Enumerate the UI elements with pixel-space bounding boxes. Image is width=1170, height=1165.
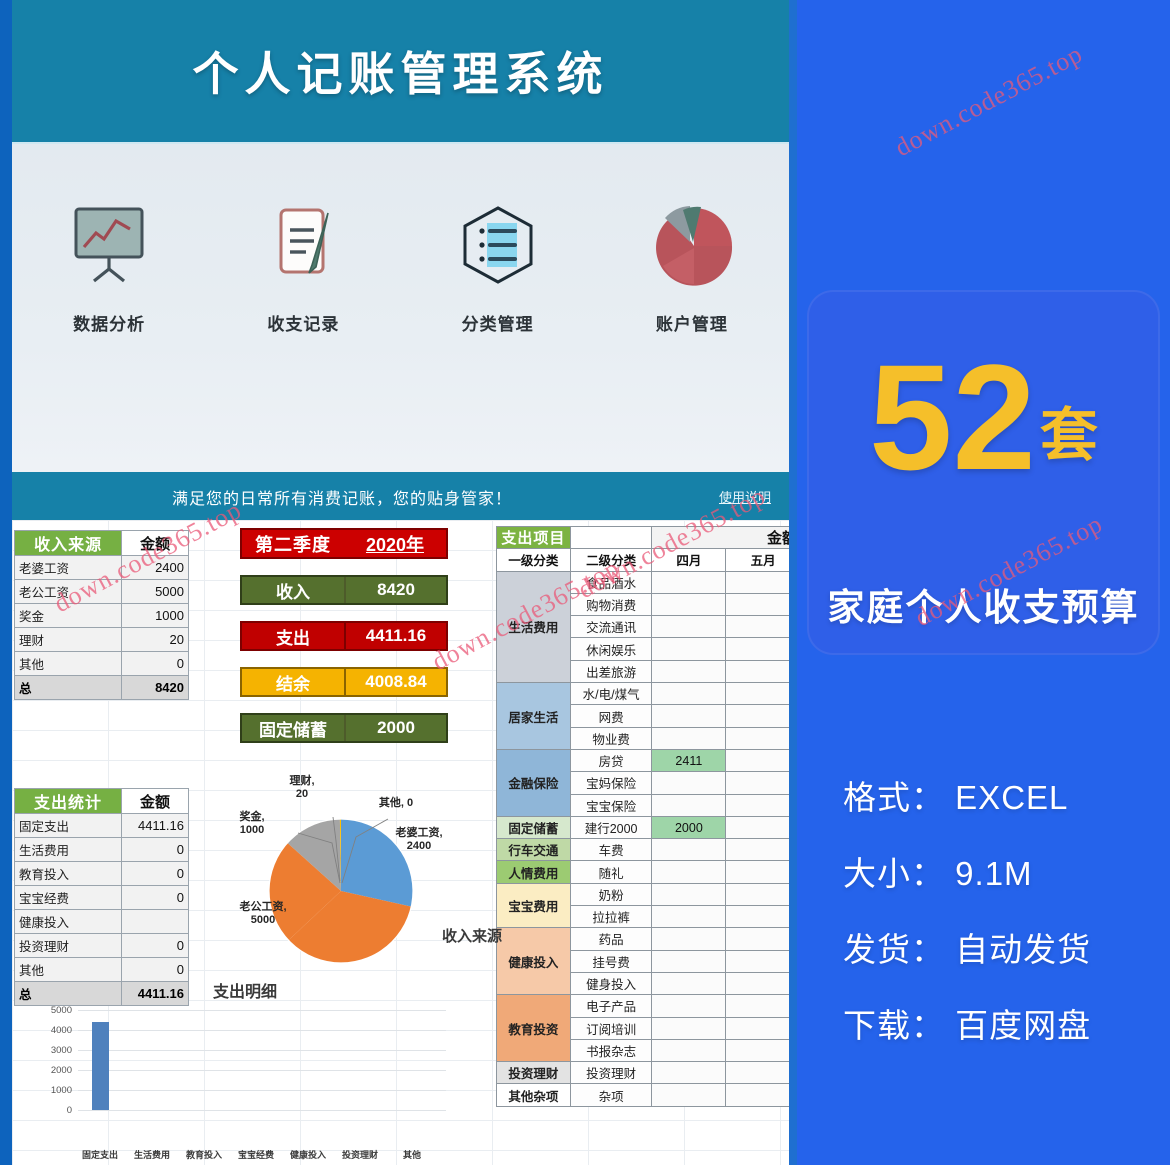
income-row-label: 老婆工资 — [15, 556, 122, 580]
summary-row-balance: 结余 4008.84 — [240, 667, 448, 697]
nav-label-account-management: 账户管理 — [617, 310, 767, 335]
expense-item-label: 车费 — [570, 839, 652, 861]
pie-label-bonus: 奖金, 1000 — [230, 811, 274, 837]
expense-cell-may[interactable] — [726, 1084, 797, 1106]
expense-item-label: 杂项 — [570, 1084, 652, 1106]
expense-cell-april[interactable] — [652, 571, 726, 593]
expense-cell-may[interactable] — [726, 616, 797, 638]
expense-item-label: 房贷 — [570, 749, 652, 771]
y-axis-tick: 1000 — [36, 1085, 72, 1096]
table-row[interactable]: 人情费用 随礼 — [497, 861, 798, 883]
expense-cell-april[interactable] — [652, 972, 726, 994]
expense-item-label: 电子产品 — [570, 995, 652, 1017]
income-total-value: 8420 — [122, 676, 189, 700]
stat-row-value[interactable]: 0 — [122, 934, 189, 958]
expense-item-label: 健身投入 — [570, 972, 652, 994]
income-total-label: 总 — [15, 676, 122, 700]
expense-detail-table[interactable]: 支出项目 金额 一级分类 二级分类 四月 五月 生活费用 食品酒水 — [496, 526, 797, 1107]
table-row[interactable]: 居家生活 水/电/煤气 — [497, 683, 798, 705]
expense-item-label: 书报杂志 — [570, 1039, 652, 1061]
gridline — [78, 1090, 446, 1091]
nav-item-income-expense-record[interactable]: 收支记录 — [228, 202, 378, 335]
expense-cell-may[interactable] — [726, 1062, 797, 1084]
expense-cell-april[interactable] — [652, 1062, 726, 1084]
expense-cell-may[interactable] — [726, 928, 797, 950]
expense-cell-april[interactable] — [652, 1039, 726, 1061]
summary-value-balance: 4008.84 — [346, 669, 446, 695]
nav-item-data-analysis[interactable]: 数据分析 — [34, 202, 184, 335]
expense-cell-may[interactable] — [726, 772, 797, 794]
expense-item-label: 物业费 — [570, 727, 652, 749]
expense-item-label: 药品 — [570, 928, 652, 950]
nav-label-category-management: 分类管理 — [423, 310, 573, 335]
table-row[interactable]: 宝宝经费 0 — [15, 886, 189, 910]
stat-row-value[interactable]: 4411.16 — [122, 814, 189, 838]
table-row[interactable]: 宝宝费用 奶粉 — [497, 883, 798, 905]
stat-row-label: 健康投入 — [15, 910, 122, 934]
expense-cell-may[interactable] — [726, 950, 797, 972]
table-row[interactable]: 老婆工资 2400 — [15, 556, 189, 580]
table-row[interactable]: 生活费用 食品酒水 — [497, 571, 798, 593]
spreadsheet-area[interactable]: 收入来源 金额 老婆工资 2400 老公工资 5000 奖金 1000 — [12, 520, 789, 1165]
expense-cell-april[interactable] — [652, 593, 726, 615]
table-header-row: 一级分类 二级分类 四月 五月 — [497, 549, 798, 571]
expense-cell-may[interactable] — [726, 1039, 797, 1061]
summary-row-savings: 固定储蓄 2000 — [240, 713, 448, 743]
expense-item-label: 水/电/煤气 — [570, 683, 652, 705]
promo-info-size: 大小： 9.1M — [843, 836, 1163, 912]
income-row-value[interactable]: 20 — [122, 628, 189, 652]
stat-row-label: 生活费用 — [15, 838, 122, 862]
pie-label-licai: 理财, 20 — [282, 775, 322, 801]
income-table[interactable]: 收入来源 金额 老婆工资 2400 老公工资 5000 奖金 1000 — [14, 530, 189, 700]
table-title-row: 支出项目 金额 — [497, 527, 798, 549]
stat-header-amount: 金额 — [122, 789, 189, 814]
table-header-row: 支出统计 金额 — [15, 789, 189, 814]
nav-panel: 数据分析 收支记录 — [12, 142, 789, 472]
expense-cell-april[interactable] — [652, 906, 726, 928]
stat-row-value[interactable]: 0 — [122, 838, 189, 862]
expense-cell-may[interactable] — [726, 794, 797, 816]
expense-cell-may[interactable] — [726, 727, 797, 749]
table-row[interactable]: 教育投入 0 — [15, 862, 189, 886]
bar-chart-title: 支出明细 — [30, 978, 460, 1002]
stat-row-value[interactable]: 0 — [122, 886, 189, 910]
promo-info-delivery: 发货： 自动发货 — [843, 912, 1163, 988]
quarter-summary: 第二季度 2020年 收入 8420 支出 4411.16 结余 4008.84… — [240, 528, 448, 743]
gridline — [78, 1110, 446, 1111]
expense-cell-april[interactable] — [652, 1084, 726, 1106]
expense-cell-may[interactable] — [726, 972, 797, 994]
promo-count-card: 52套 家庭个人收支预算 — [807, 290, 1160, 655]
table-row[interactable]: 健康投入 药品 — [497, 928, 798, 950]
expense-item-label: 宝宝保险 — [570, 794, 652, 816]
pie-chart-title: 收入来源 — [442, 925, 502, 946]
note-pen-icon — [228, 202, 378, 288]
expense-cell-may[interactable] — [726, 683, 797, 705]
income-table-body: 收入来源 金额 老婆工资 2400 老公工资 5000 奖金 1000 — [15, 531, 189, 700]
stat-row-label: 教育投入 — [15, 862, 122, 886]
income-row-label: 其他 — [15, 652, 122, 676]
tagline-text: 满足您的日常所有消费记账，您的贴身管家！ — [172, 485, 512, 509]
x-axis-tick: 教育投入 — [176, 1148, 232, 1161]
income-row-label: 老公工资 — [15, 580, 122, 604]
gridline — [78, 1050, 446, 1051]
nav-label-data-analysis: 数据分析 — [34, 310, 184, 335]
expense-cell-may[interactable] — [726, 995, 797, 1017]
summary-key-expense: 支出 — [242, 623, 346, 649]
income-pie-chart: 理财, 20 其他, 0 奖金, 1000 老婆工资, 2400 老公工资, 5… — [208, 775, 508, 985]
expense-item-label: 投资理财 — [570, 1062, 652, 1084]
expense-cell-april[interactable] — [652, 839, 726, 861]
promo-subtitle: 家庭个人收支预算 — [807, 577, 1160, 631]
left-accent-rail — [0, 0, 12, 1165]
nav-icon-row: 数据分析 收支记录 — [12, 202, 789, 335]
y-axis-tick: 5000 — [36, 1005, 72, 1016]
expense-cell-april[interactable] — [652, 683, 726, 705]
table-row[interactable]: 投资理财 投资理财 — [497, 1062, 798, 1084]
y-axis-tick: 3000 — [36, 1045, 72, 1056]
summary-value-savings: 2000 — [346, 715, 446, 741]
table-row[interactable]: 理财 20 — [15, 628, 189, 652]
stat-row-value[interactable] — [122, 910, 189, 934]
y-axis-tick: 2000 — [36, 1065, 72, 1076]
gridline — [78, 1010, 446, 1011]
income-header-amount: 金额 — [122, 531, 189, 556]
expense-cell-april[interactable] — [652, 660, 726, 682]
stat-row-label: 宝宝经费 — [15, 886, 122, 910]
expense-cell-may[interactable] — [726, 571, 797, 593]
promo-info-format: 格式： EXCEL — [843, 760, 1163, 836]
income-row-label: 奖金 — [15, 604, 122, 628]
hexagon-list-icon — [423, 202, 573, 288]
income-row-value[interactable]: 2400 — [122, 556, 189, 580]
table-row[interactable]: 固定支出 4411.16 — [15, 814, 189, 838]
expense-cell-april[interactable]: 2000 — [652, 816, 726, 838]
table-row[interactable]: 固定储蓄 建行2000 2000 — [497, 816, 798, 838]
stat-header-source: 支出统计 — [15, 789, 122, 814]
expense-group-label: 生活费用 — [497, 571, 571, 682]
expense-cell-april[interactable] — [652, 883, 726, 905]
expense-stat-table[interactable]: 支出统计 金额 固定支出 4411.16 生活费用 0 教育投入 0 — [14, 788, 189, 1006]
income-row-value[interactable]: 5000 — [122, 580, 189, 604]
table-row[interactable]: 金融保险 房贷 2411 — [497, 749, 798, 771]
expense-bar-chart: 支出明细 5000 4000 3000 2000 1000 0 固定支出 — [30, 978, 460, 1153]
table-total-row: 总 8420 — [15, 676, 189, 700]
table-header-row: 收入来源 金额 — [15, 531, 189, 556]
table-row[interactable]: 其他杂项 杂项 — [497, 1084, 798, 1106]
help-link[interactable]: 使用说明 — [719, 487, 771, 506]
expense-cell-april[interactable] — [652, 928, 726, 950]
pie-label-other: 其他, 0 — [366, 797, 426, 810]
expense-item-label: 食品酒水 — [570, 571, 652, 593]
expense-cell-april[interactable] — [652, 616, 726, 638]
expense-col-april: 四月 — [652, 549, 726, 571]
expense-cell-april[interactable] — [652, 861, 726, 883]
income-row-value[interactable]: 0 — [122, 652, 189, 676]
expense-item-label: 挂号费 — [570, 950, 652, 972]
expense-cell-may[interactable] — [726, 660, 797, 682]
expense-cell-april[interactable] — [652, 772, 726, 794]
expense-cell-may[interactable] — [726, 749, 797, 771]
expense-title-spacer — [570, 527, 652, 549]
expense-amount-title: 金额 — [652, 527, 797, 549]
chart-board-icon — [34, 202, 184, 288]
bar-fixed-expense — [92, 1022, 109, 1110]
income-row-label: 理财 — [15, 628, 122, 652]
expense-cell-april[interactable] — [652, 1017, 726, 1039]
expense-item-label: 订阅培训 — [570, 1017, 652, 1039]
expense-table-title: 支出项目 — [497, 527, 571, 549]
expense-item-label: 拉拉裤 — [570, 906, 652, 928]
income-header-source: 收入来源 — [15, 531, 122, 556]
summary-quarter: 第二季度 — [242, 531, 344, 557]
expense-cell-may[interactable] — [726, 593, 797, 615]
expense-cell-may[interactable] — [726, 705, 797, 727]
promo-count: 52套 — [807, 342, 1160, 511]
table-row[interactable]: 投资理财 0 — [15, 934, 189, 958]
x-axis-tick: 固定支出 — [72, 1148, 128, 1161]
pie-label-husband-salary: 老公工资, 5000 — [238, 901, 288, 927]
tagline-bar: 满足您的日常所有消费记账，您的贴身管家！ 使用说明 — [12, 472, 789, 520]
expense-cell-may[interactable] — [726, 1017, 797, 1039]
watermark: down.code365.top — [890, 39, 1088, 163]
stat-row-label: 固定支出 — [15, 814, 122, 838]
expense-item-label: 随礼 — [570, 861, 652, 883]
expense-item-label: 休闲娱乐 — [570, 638, 652, 660]
summary-row-expense: 支出 4411.16 — [240, 621, 448, 651]
promo-count-unit: 套 — [1040, 403, 1098, 468]
y-axis-tick: 0 — [36, 1105, 72, 1116]
x-axis-tick: 健康投入 — [280, 1148, 336, 1161]
gridline — [78, 1030, 446, 1031]
right-accent-rail — [789, 0, 797, 1165]
expense-item-label: 出差旅游 — [570, 660, 652, 682]
summary-value-expense: 4411.16 — [346, 623, 446, 649]
income-row-value[interactable]: 1000 — [122, 604, 189, 628]
x-axis-tick: 宝宝经费 — [228, 1148, 284, 1161]
expense-item-label: 宝妈保险 — [570, 772, 652, 794]
table-row[interactable]: 行车交通 车费 — [497, 839, 798, 861]
app-window: 个人记账管理系统 数据分析 — [0, 0, 797, 1165]
stat-row-value[interactable]: 0 — [122, 862, 189, 886]
promo-info-list: 格式： EXCEL 大小： 9.1M 发货： 自动发货 下载： 百度网盘 — [843, 760, 1163, 1064]
expense-col-may: 五月 — [726, 549, 797, 571]
expense-col-level2: 二级分类 — [570, 549, 652, 571]
x-axis-tick: 其他 — [384, 1148, 440, 1161]
pie-chart-icon — [617, 202, 767, 288]
nav-label-income-expense-record: 收支记录 — [228, 310, 378, 335]
summary-row-income: 收入 8420 — [240, 575, 448, 605]
expense-item-label: 购物消费 — [570, 593, 652, 615]
x-axis-tick: 投资理财 — [332, 1148, 388, 1161]
y-axis-tick: 4000 — [36, 1025, 72, 1036]
expense-col-level1: 一级分类 — [497, 549, 571, 571]
expense-cell-april[interactable] — [652, 794, 726, 816]
summary-value-income: 8420 — [346, 577, 446, 603]
expense-item-label: 建行2000 — [570, 816, 652, 838]
pie-label-wife-salary: 老婆工资, 2400 — [394, 827, 444, 853]
summary-key-balance: 结余 — [242, 669, 346, 695]
expense-stat-table-body: 支出统计 金额 固定支出 4411.16 生活费用 0 教育投入 0 — [15, 789, 189, 1006]
table-row[interactable]: 教育投资 电子产品 — [497, 995, 798, 1017]
summary-year: 2020年 — [344, 531, 446, 557]
nav-item-account-management[interactable]: 账户管理 — [617, 202, 767, 335]
app-banner: 个人记账管理系统 — [12, 0, 789, 142]
gridline — [78, 1070, 446, 1071]
expense-group-label: 教育投资 — [497, 995, 571, 1062]
expense-detail-body: 支出项目 金额 一级分类 二级分类 四月 五月 生活费用 食品酒水 — [497, 527, 798, 1107]
nav-item-category-management[interactable]: 分类管理 — [423, 202, 573, 335]
expense-cell-april[interactable] — [652, 950, 726, 972]
promo-panel: 52套 家庭个人收支预算 格式： EXCEL 大小： 9.1M 发货： 自动发货… — [797, 0, 1170, 1165]
expense-group-label: 投资理财 — [497, 1062, 571, 1084]
promo-count-number: 52 — [869, 333, 1036, 501]
table-row[interactable]: 其他 0 — [15, 652, 189, 676]
expense-cell-april[interactable] — [652, 638, 726, 660]
screenshot-root: 个人记账管理系统 数据分析 — [0, 0, 1170, 1165]
bar-plot-area: 5000 4000 3000 2000 1000 0 固定支出 生活费用 教育投… — [78, 1010, 446, 1110]
expense-cell-may[interactable] — [726, 906, 797, 928]
table-row[interactable]: 老公工资 5000 — [15, 580, 189, 604]
x-axis-tick: 生活费用 — [124, 1148, 180, 1161]
stat-row-label: 投资理财 — [15, 934, 122, 958]
expense-group-label: 其他杂项 — [497, 1084, 571, 1106]
expense-cell-may[interactable] — [726, 816, 797, 838]
table-row[interactable]: 奖金 1000 — [15, 604, 189, 628]
expense-cell-april[interactable] — [652, 995, 726, 1017]
table-row[interactable]: 健康投入 — [15, 910, 189, 934]
expense-cell-may[interactable] — [726, 839, 797, 861]
summary-key-income: 收入 — [242, 577, 346, 603]
expense-cell-may[interactable] — [726, 861, 797, 883]
summary-title-bar: 第二季度 2020年 — [240, 528, 448, 559]
expense-cell-april[interactable] — [652, 705, 726, 727]
expense-item-label: 奶粉 — [570, 883, 652, 905]
expense-group-label: 居家生活 — [497, 683, 571, 750]
expense-cell-april[interactable]: 2411 — [652, 749, 726, 771]
promo-info-download: 下载： 百度网盘 — [843, 988, 1163, 1064]
expense-cell-may[interactable] — [726, 883, 797, 905]
summary-key-savings: 固定储蓄 — [242, 715, 346, 741]
table-row[interactable]: 生活费用 0 — [15, 838, 189, 862]
expense-item-label: 网费 — [570, 705, 652, 727]
expense-cell-may[interactable] — [726, 638, 797, 660]
expense-item-label: 交流通讯 — [570, 616, 652, 638]
expense-cell-april[interactable] — [652, 727, 726, 749]
page-title: 个人记账管理系统 — [193, 38, 609, 104]
